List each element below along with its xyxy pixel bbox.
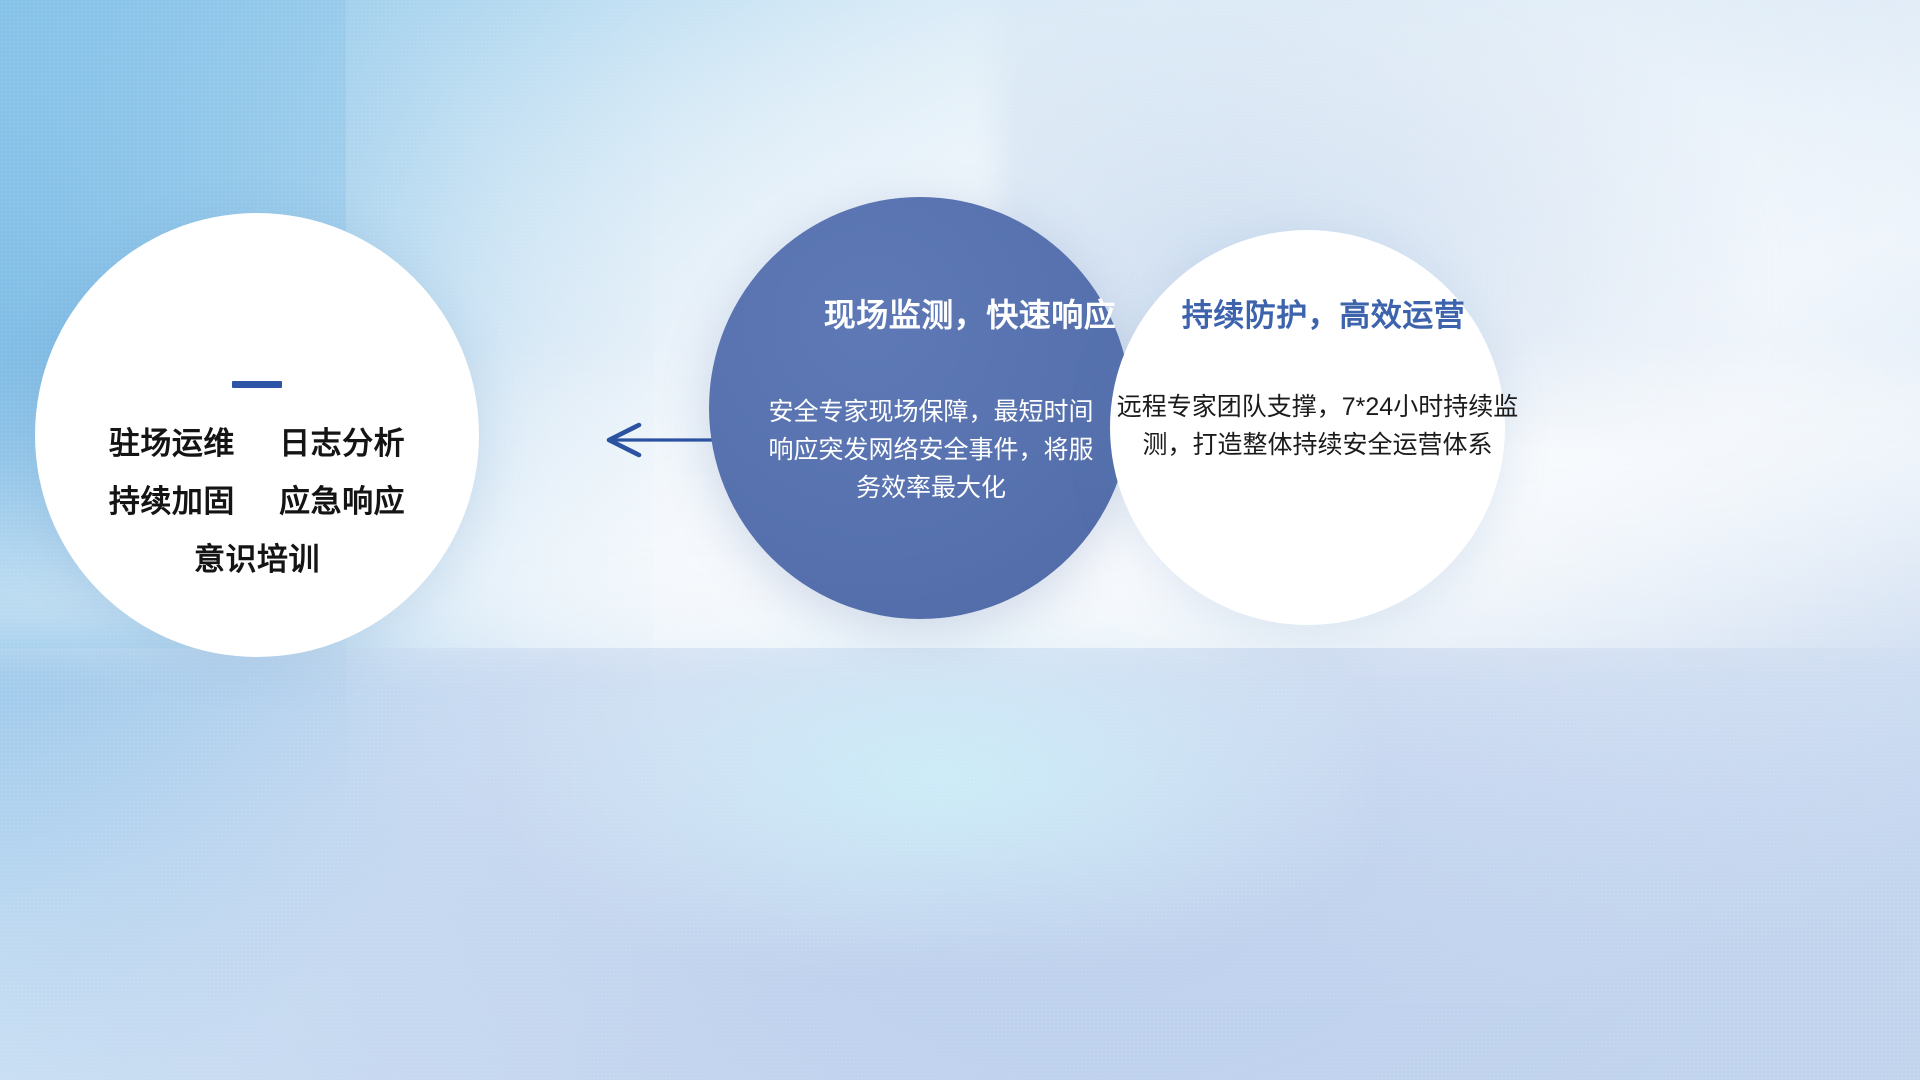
onsite-monitoring-body: 安全专家现场保障，最短时间响应突发网络安全事件，将服务效率最大化 xyxy=(765,393,1097,507)
capability-row: 驻场运维 日志分析 xyxy=(35,428,479,459)
capability-label: 驻场运维 xyxy=(109,426,235,461)
slide-canvas: 驻场运维 日志分析 持续加固 应急响应 意识培训 现场监测，快速响应 安全专家现… xyxy=(0,0,1920,1080)
capability-row: 持续加固 应急响应 xyxy=(35,486,479,517)
capability-label: 持续加固 xyxy=(109,484,235,519)
capability-row-last: 意识培训 xyxy=(35,544,479,575)
capability-label: 日志分析 xyxy=(279,426,405,461)
onsite-monitoring-circle[interactable]: 现场监测，快速响应 安全专家现场保障，最短时间响应突发网络安全事件，将服务效率最… xyxy=(709,197,1131,619)
service-capabilities-circle[interactable]: 驻场运维 日志分析 持续加固 应急响应 意识培训 xyxy=(35,213,479,657)
service-capabilities-content: 驻场运维 日志分析 持续加固 应急响应 意识培训 xyxy=(35,381,479,575)
continuous-protection-circle[interactable]: 持续防护，高效运营 远程专家团队支撑，7*24小时持续监测，打造整体持续安全运营… xyxy=(1110,230,1505,625)
capability-label: 应急响应 xyxy=(279,484,405,519)
continuous-protection-title: 持续防护，高效运营 xyxy=(1118,290,1529,335)
horizontal-rule-icon xyxy=(232,381,282,388)
continuous-protection-body: 远程专家团队支撑，7*24小时持续监测，打造整体持续安全运营体系 xyxy=(1104,388,1531,464)
